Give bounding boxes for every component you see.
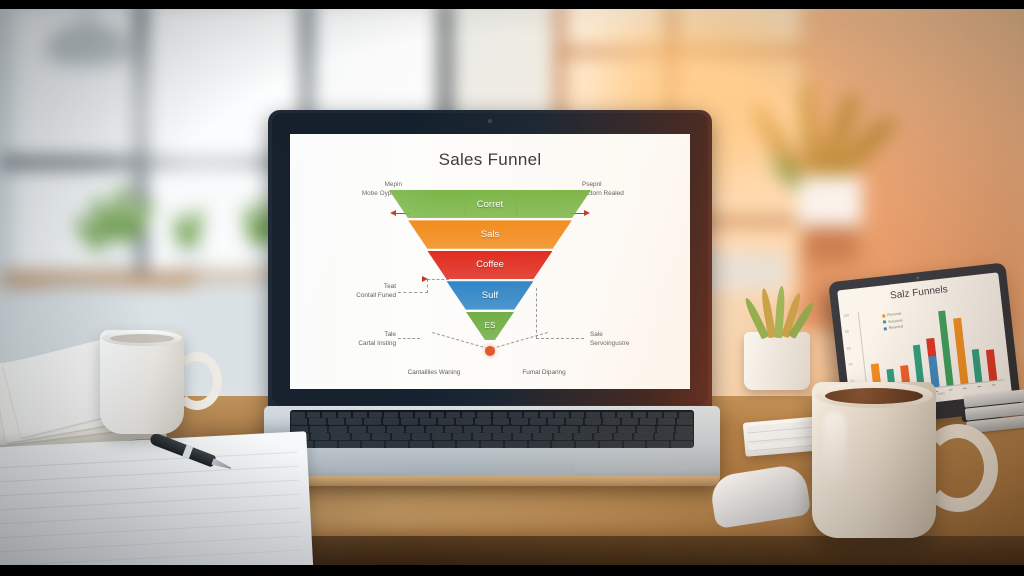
annotation-mid-left: Teat Contall Funed bbox=[304, 282, 396, 301]
annotation-top-left-line1: Mepin bbox=[306, 180, 402, 189]
keyboard-key[interactable] bbox=[401, 418, 417, 424]
keyboard-key[interactable] bbox=[509, 412, 523, 417]
keyboard-key[interactable] bbox=[309, 418, 325, 424]
keyboard-key[interactable] bbox=[328, 418, 344, 424]
keyboard-key[interactable] bbox=[310, 426, 327, 432]
lined-notepad[interactable] bbox=[0, 431, 313, 576]
keyboard-key[interactable] bbox=[511, 418, 527, 424]
keyboard-key[interactable] bbox=[383, 418, 399, 424]
keyboard-key[interactable] bbox=[315, 441, 337, 447]
keyboard-key[interactable] bbox=[438, 418, 454, 424]
keyboard-key[interactable] bbox=[434, 441, 456, 447]
tablet-y-tick: 40 bbox=[848, 363, 852, 367]
keyboard-key[interactable] bbox=[329, 426, 346, 432]
keyboard-key[interactable] bbox=[513, 433, 531, 439]
tablet-bar bbox=[926, 338, 939, 388]
tablet-chart-title: Salz Funnels bbox=[838, 278, 1000, 307]
annotation-lower-left-line2: Cartal Insting bbox=[304, 339, 396, 348]
keyboard-key[interactable] bbox=[457, 441, 479, 447]
keyboard-key[interactable] bbox=[352, 433, 370, 439]
keyboard-key[interactable] bbox=[624, 441, 646, 447]
keyboard-key[interactable] bbox=[331, 433, 349, 439]
laptop-base bbox=[264, 406, 720, 484]
keyboard-key[interactable] bbox=[464, 426, 481, 432]
keyboard-key[interactable] bbox=[410, 441, 432, 447]
tablet-bar bbox=[986, 349, 997, 381]
keyboard-key[interactable] bbox=[346, 418, 362, 424]
funnel-band-label: Coffee bbox=[476, 259, 504, 270]
funnel-band-label: ES bbox=[485, 321, 496, 330]
legend-swatch-icon bbox=[883, 320, 886, 323]
keyboard-key[interactable] bbox=[617, 412, 631, 417]
annotation-lower-left-line1: Tale bbox=[304, 330, 396, 339]
keyboard-key[interactable] bbox=[338, 412, 352, 417]
annotation-lower-right-line1: Sale bbox=[590, 330, 686, 339]
keyboard-key[interactable] bbox=[677, 418, 693, 424]
keyboard-key[interactable] bbox=[387, 426, 404, 432]
keyboard-key[interactable] bbox=[664, 412, 678, 417]
keyboard-key[interactable] bbox=[432, 433, 450, 439]
keyboard-key[interactable] bbox=[505, 441, 527, 447]
keyboard-key[interactable] bbox=[622, 418, 638, 424]
laptop-screen[interactable]: Sales Funnel Mepin Mobe Oyprnct Psepnl V… bbox=[290, 134, 690, 389]
keyboard-key[interactable] bbox=[633, 412, 647, 417]
keyboard-key[interactable] bbox=[655, 433, 673, 439]
keyboard-key[interactable] bbox=[585, 418, 601, 424]
keyboard-key[interactable] bbox=[369, 412, 383, 417]
keyboard-key[interactable] bbox=[493, 418, 509, 424]
keyboard-key[interactable] bbox=[522, 426, 539, 432]
keyboard-key[interactable] bbox=[533, 433, 551, 439]
annotation-mid-left-line2: Contall Funed bbox=[304, 291, 396, 300]
keyboard-key[interactable] bbox=[675, 433, 693, 439]
keyboard-key[interactable] bbox=[481, 441, 503, 447]
keyboard-key[interactable] bbox=[462, 412, 476, 417]
laptop-lid: Sales Funnel Mepin Mobe Oyprnct Psepnl V… bbox=[268, 110, 712, 410]
annotation-mid-left-line1: Teat bbox=[304, 282, 396, 291]
tablet-x-tick: ▬ bbox=[986, 382, 1001, 388]
keyboard-key[interactable] bbox=[555, 412, 569, 417]
keyboard-key[interactable] bbox=[658, 418, 674, 424]
keyboard-key[interactable] bbox=[647, 441, 669, 447]
keyboard-key[interactable] bbox=[483, 426, 500, 432]
keyboard-key[interactable] bbox=[339, 441, 361, 447]
tablet-bar bbox=[971, 349, 982, 382]
keyboard-key[interactable] bbox=[420, 418, 436, 424]
scene: Salz Funnels 100806040200 RevenueSession… bbox=[0, 0, 1024, 576]
tablet-bar-stack bbox=[926, 338, 935, 357]
tablet-chart-legend: RevenueSessionsRetained bbox=[882, 310, 904, 332]
keyboard-key[interactable] bbox=[580, 426, 597, 432]
annotation-bottom-right: Fumal Diparing bbox=[496, 368, 592, 377]
keyboard-key[interactable] bbox=[637, 426, 654, 432]
keyboard-key[interactable] bbox=[473, 433, 491, 439]
tablet-x-tick: ▬ bbox=[972, 383, 987, 389]
funnel-band[interactable]: Sulf bbox=[447, 281, 534, 309]
tablet-y-tick: 60 bbox=[847, 346, 851, 350]
keyboard-key[interactable] bbox=[671, 441, 693, 447]
keyboard-key[interactable] bbox=[291, 412, 305, 417]
funnel-node bbox=[485, 346, 495, 356]
annotation-top-right-line1: Psepnl bbox=[582, 180, 682, 189]
keyboard-key[interactable] bbox=[392, 433, 410, 439]
legend-swatch-icon bbox=[882, 314, 885, 317]
funnel-band[interactable]: Coffee bbox=[427, 251, 552, 279]
keyboard-key[interactable] bbox=[445, 426, 462, 432]
slide-title: Sales Funnel bbox=[290, 150, 690, 170]
succulent-pot bbox=[744, 332, 810, 390]
laptop-base-edge bbox=[264, 476, 720, 486]
keyboard-key[interactable] bbox=[493, 412, 507, 417]
keyboard-key[interactable] bbox=[614, 433, 632, 439]
keyboard-key[interactable] bbox=[554, 433, 572, 439]
funnel-band-label: Corret bbox=[477, 199, 503, 210]
keyboard-key[interactable] bbox=[603, 418, 619, 424]
keyboard-key[interactable] bbox=[648, 412, 662, 417]
keyboard-key[interactable] bbox=[372, 433, 390, 439]
keyboard-key[interactable] bbox=[307, 412, 321, 417]
funnel-band-label: Sals bbox=[481, 229, 499, 240]
annotation-bottom-left: Cantalilies Waning bbox=[386, 368, 482, 377]
keyboard-key[interactable] bbox=[618, 426, 635, 432]
legend-swatch-icon bbox=[884, 327, 887, 330]
funnel-band[interactable]: Corret bbox=[389, 190, 591, 218]
tablet-y-tick: 80 bbox=[845, 330, 849, 334]
keyboard-key[interactable] bbox=[576, 441, 598, 447]
keyboard-key[interactable] bbox=[566, 418, 582, 424]
white-coffee-mug[interactable] bbox=[100, 330, 204, 434]
keyboard-key[interactable] bbox=[529, 441, 551, 447]
tablet-legend-label: Retained bbox=[889, 325, 904, 331]
keyboard-key[interactable] bbox=[640, 418, 656, 424]
keyboard-key[interactable] bbox=[362, 441, 384, 447]
keyboard-key[interactable] bbox=[406, 426, 423, 432]
tablet-legend-item: Retained bbox=[883, 324, 903, 333]
laptop-keyboard[interactable] bbox=[290, 410, 694, 448]
funnel-slide: Sales Funnel Mepin Mobe Oyprnct Psepnl V… bbox=[290, 134, 690, 389]
keyboard-key[interactable] bbox=[493, 433, 511, 439]
keyboard-key[interactable] bbox=[548, 418, 564, 424]
keyboard-key[interactable] bbox=[552, 441, 574, 447]
tablet-bar bbox=[953, 318, 968, 384]
keyboard-key[interactable] bbox=[586, 412, 600, 417]
laptop[interactable]: Sales Funnel Mepin Mobe Oyprnct Psepnl V… bbox=[264, 110, 720, 520]
keyboard-key[interactable] bbox=[446, 412, 460, 417]
keyboard-key[interactable] bbox=[400, 412, 414, 417]
keyboard-key[interactable] bbox=[431, 412, 445, 417]
tablet-bar bbox=[938, 310, 954, 386]
keyboard-key[interactable] bbox=[412, 433, 430, 439]
funnel-band-label: Sulf bbox=[482, 290, 498, 301]
keyboard-key[interactable] bbox=[602, 412, 616, 417]
keyboard-key[interactable] bbox=[571, 412, 585, 417]
laptop-trackpad[interactable] bbox=[409, 452, 575, 478]
keyboard-key[interactable] bbox=[503, 426, 520, 432]
keyboard-key[interactable] bbox=[322, 412, 336, 417]
annotation-top-left-line2: Mobe Oyprnct bbox=[306, 189, 402, 198]
tablet-y-tick: 100 bbox=[843, 313, 849, 318]
tablet-legend-label: Revenue bbox=[887, 311, 902, 317]
keyboard-key[interactable] bbox=[415, 412, 429, 417]
keyboard-key[interactable] bbox=[384, 412, 398, 417]
keyboard-key[interactable] bbox=[426, 426, 443, 432]
ceramic-coffee-mug[interactable] bbox=[812, 382, 972, 538]
keyboard-key[interactable] bbox=[368, 426, 385, 432]
keyboard-key[interactable] bbox=[475, 418, 491, 424]
keyboard-key[interactable] bbox=[676, 426, 693, 432]
keyboard-key[interactable] bbox=[560, 426, 577, 432]
annotation-top-right-line2: Victorn Realed bbox=[582, 189, 682, 198]
annotation-top-left: Mepin Mobe Oyprnct bbox=[306, 180, 402, 199]
funnel-band[interactable]: Sals bbox=[408, 220, 572, 248]
keyboard-key[interactable] bbox=[634, 433, 652, 439]
keyboard-key[interactable] bbox=[600, 441, 622, 447]
annotation-top-right: Psepnl Victorn Realed bbox=[582, 180, 682, 199]
funnel-band[interactable]: ES bbox=[466, 312, 514, 340]
annotation-lower-right-line2: Servoingustre bbox=[590, 339, 686, 348]
keyboard-key[interactable] bbox=[657, 426, 674, 432]
keyboard-key[interactable] bbox=[311, 433, 329, 439]
keyboard-key[interactable] bbox=[524, 412, 538, 417]
webcam-icon bbox=[488, 119, 492, 123]
keyboard-key[interactable] bbox=[530, 418, 546, 424]
keyboard-key[interactable] bbox=[679, 412, 693, 417]
keyboard-key[interactable] bbox=[541, 426, 558, 432]
keyboard-key[interactable] bbox=[291, 418, 307, 424]
keyboard-key[interactable] bbox=[353, 412, 367, 417]
keyboard-key[interactable] bbox=[364, 418, 380, 424]
keyboard-key[interactable] bbox=[349, 426, 366, 432]
keyboard-key[interactable] bbox=[540, 412, 554, 417]
funnel-chart: CorretSalsCoffeeSulfES bbox=[392, 190, 588, 340]
keyboard-key[interactable] bbox=[386, 441, 408, 447]
keyboard-key[interactable] bbox=[599, 426, 616, 432]
keyboard-key[interactable] bbox=[453, 433, 471, 439]
tablet-camera-icon bbox=[916, 276, 919, 279]
keyboard-key[interactable] bbox=[574, 433, 592, 439]
keyboard-key[interactable] bbox=[594, 433, 612, 439]
keyboard-key[interactable] bbox=[456, 418, 472, 424]
keyboard-key[interactable] bbox=[477, 412, 491, 417]
annotation-lower-right: Sale Servoingustre bbox=[590, 330, 686, 349]
annotation-lower-left: Tale Cartal Insting bbox=[304, 330, 396, 349]
